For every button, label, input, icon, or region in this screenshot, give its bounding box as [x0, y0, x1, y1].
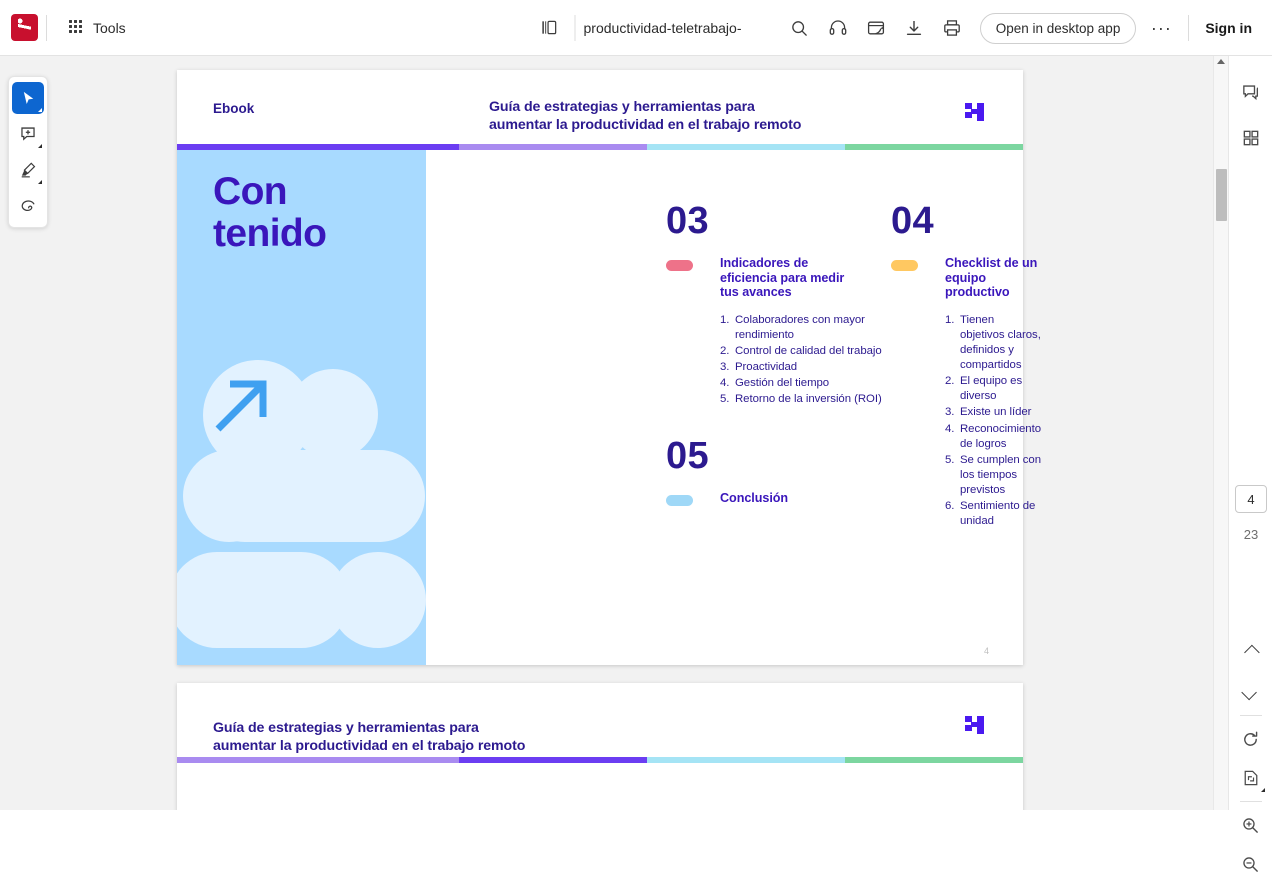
page-eyebrow: Ebook [213, 101, 254, 116]
contents-heading-line1: Con [213, 171, 326, 213]
rotate-button[interactable] [1235, 723, 1267, 755]
select-tool-button[interactable] [12, 82, 44, 114]
list-item: 4.Reconocimiento de logros [945, 422, 1041, 452]
tools-button-label: Tools [93, 20, 126, 36]
hubspot-sprocket-logo-icon [963, 713, 987, 737]
page-number-label: 4 [984, 646, 989, 656]
headphones-icon[interactable] [820, 10, 856, 46]
section-color-dash [666, 260, 693, 271]
section-item-list: 1.Tienen objetivos claros, definidos y c… [945, 313, 1041, 529]
previous-page-button[interactable] [1235, 636, 1267, 668]
flyout-indicator-icon [1261, 788, 1265, 792]
top-toolbar: Tools productividad-teletrabajo- [0, 0, 1272, 56]
list-item: 3.Proactividad [720, 360, 885, 375]
left-tool-rail [8, 76, 48, 228]
zoom-out-icon [1241, 855, 1260, 874]
decorative-pill [177, 552, 349, 648]
comments-panel-button[interactable] [1235, 76, 1267, 108]
decorative-circle [330, 552, 426, 648]
scrollbar-thumb[interactable] [1216, 169, 1227, 221]
tools-button[interactable]: Tools [59, 14, 136, 42]
open-in-desktop-app-button[interactable]: Open in desktop app [980, 13, 1137, 44]
page-header-title: Guía de estrategias y herramientas para … [213, 719, 525, 755]
list-item: 3.Existe un líder [945, 405, 1041, 420]
page-header-title-line2: aumentar la productividad en el trabajo … [489, 116, 801, 134]
share-link-icon[interactable] [858, 10, 894, 46]
toc-section-05: 05 Conclusión [666, 437, 788, 506]
add-comment-icon [19, 125, 37, 143]
toolbar-actions: Open in desktop app ··· Sign in [782, 0, 1272, 56]
total-pages-label: 23 [1229, 527, 1272, 542]
hubspot-sprocket-logo-icon [963, 100, 987, 124]
decorative-circle [288, 369, 378, 459]
progress-segment-1 [177, 757, 459, 763]
page-thumbnails-button[interactable] [1235, 122, 1267, 154]
signin-divider [1188, 15, 1189, 41]
document-title: productividad-teletrabajo- [584, 20, 742, 36]
contents-heading: Con tenido [213, 171, 326, 254]
rail-separator [1240, 801, 1262, 802]
highlight-tool-button[interactable] [12, 154, 44, 186]
zoom-in-button[interactable] [1235, 809, 1267, 841]
page-header-title-line1: Guía de estrategias y herramientas para [489, 98, 801, 116]
page-panel-icon[interactable] [531, 10, 567, 46]
chevron-up-icon [1244, 644, 1260, 660]
section-heading: Checklist de un equipo productivo [945, 256, 1041, 300]
page-header-title-line1: Guía de estrategias y herramientas para [213, 719, 525, 737]
fit-page-button[interactable] [1235, 762, 1267, 794]
vertical-scrollbar[interactable] [1213, 56, 1228, 810]
freehand-loop-icon [19, 197, 38, 216]
section-heading: Conclusión [720, 491, 788, 506]
highlighter-icon [19, 161, 37, 179]
comment-bubble-icon [1241, 83, 1260, 102]
section-color-dash [891, 260, 918, 271]
comment-tool-button[interactable] [12, 118, 44, 150]
section-number: 05 [666, 437, 788, 475]
grid-apps-icon [69, 20, 84, 35]
pdf-page-4: Ebook Guía de estrategias y herramientas… [177, 70, 1023, 665]
page-thumbnails-icon [1242, 129, 1260, 147]
list-item: 4.Gestión del tiempo [720, 376, 885, 391]
list-item: 5.Se cumplen con los tiempos previstos [945, 453, 1041, 498]
progress-segment-3 [647, 757, 846, 763]
list-item: 1.Tienen objetivos claros, definidos y c… [945, 313, 1041, 373]
right-tool-rail: 4 23 [1228, 56, 1272, 810]
search-icon[interactable] [782, 10, 818, 46]
flyout-indicator-icon [38, 108, 42, 112]
toc-section-04: 04 Checklist de un equipo productivo 1.T… [891, 202, 1041, 530]
flyout-indicator-icon [38, 180, 42, 184]
arrow-up-right-icon [211, 372, 275, 436]
pdf-viewer: Ebook Guía de estrategias y herramientas… [0, 56, 1228, 810]
section-number: 03 [666, 202, 885, 240]
document-title-group: productividad-teletrabajo- [531, 0, 742, 56]
section-heading: Indicadores de eficiencia para medir tus… [720, 256, 850, 300]
flyout-indicator-icon [38, 144, 42, 148]
sections-panel: 03 Indicadores de eficiencia para medir … [426, 150, 1023, 665]
page-header: Guía de estrategias y herramientas para … [177, 683, 1023, 757]
pdf-page-5: Guía de estrategias y herramientas para … [177, 683, 1023, 810]
page-header-title-line2: aumentar la productividad en el trabajo … [213, 737, 525, 755]
section-number: 04 [891, 202, 1041, 240]
sign-in-button[interactable]: Sign in [1199, 14, 1258, 42]
list-item: 5.Retorno de la inversión (ROI) [720, 392, 885, 407]
toolbar-divider [46, 15, 47, 41]
contents-heading-line2: tenido [213, 213, 326, 255]
progress-segment-4 [845, 757, 1023, 763]
draw-tool-button[interactable] [12, 190, 44, 222]
scroll-up-arrow-icon[interactable] [1217, 59, 1225, 64]
more-options-button[interactable]: ··· [1144, 11, 1178, 45]
cursor-arrow-icon [20, 90, 37, 107]
progress-bar [177, 757, 1023, 763]
progress-segment-2 [459, 757, 647, 763]
chevron-down-icon [1241, 684, 1257, 700]
adobe-acrobat-logo-icon[interactable] [11, 14, 38, 41]
zoom-in-icon [1241, 816, 1260, 835]
next-page-button[interactable] [1235, 676, 1267, 708]
page-body: Con tenido 03 [177, 150, 1023, 665]
toc-section-03: 03 Indicadores de eficiencia para medir … [666, 202, 885, 408]
section-item-list: 1.Colaboradores con mayor rendimiento 2.… [720, 313, 885, 407]
list-item: 6.Sentimiento de unidad [945, 499, 1041, 529]
download-icon[interactable] [896, 10, 932, 46]
decorative-circle [183, 450, 275, 542]
list-item: 2.El equipo es diverso [945, 374, 1041, 404]
current-page-input[interactable]: 4 [1235, 485, 1267, 513]
contents-panel: Con tenido [177, 150, 426, 665]
title-divider [575, 15, 576, 41]
rail-separator [1240, 715, 1262, 716]
zoom-out-button[interactable] [1235, 848, 1267, 880]
list-item: 1.Colaboradores con mayor rendimiento [720, 313, 885, 343]
page-header-title: Guía de estrategias y herramientas para … [489, 98, 801, 134]
print-icon[interactable] [934, 10, 970, 46]
fit-page-icon [1242, 769, 1260, 787]
section-color-dash [666, 495, 693, 506]
rotate-clockwise-icon [1241, 730, 1260, 749]
page-header: Ebook Guía de estrategias y herramientas… [177, 70, 1023, 144]
list-item: 2.Control de calidad del trabajo [720, 344, 885, 359]
